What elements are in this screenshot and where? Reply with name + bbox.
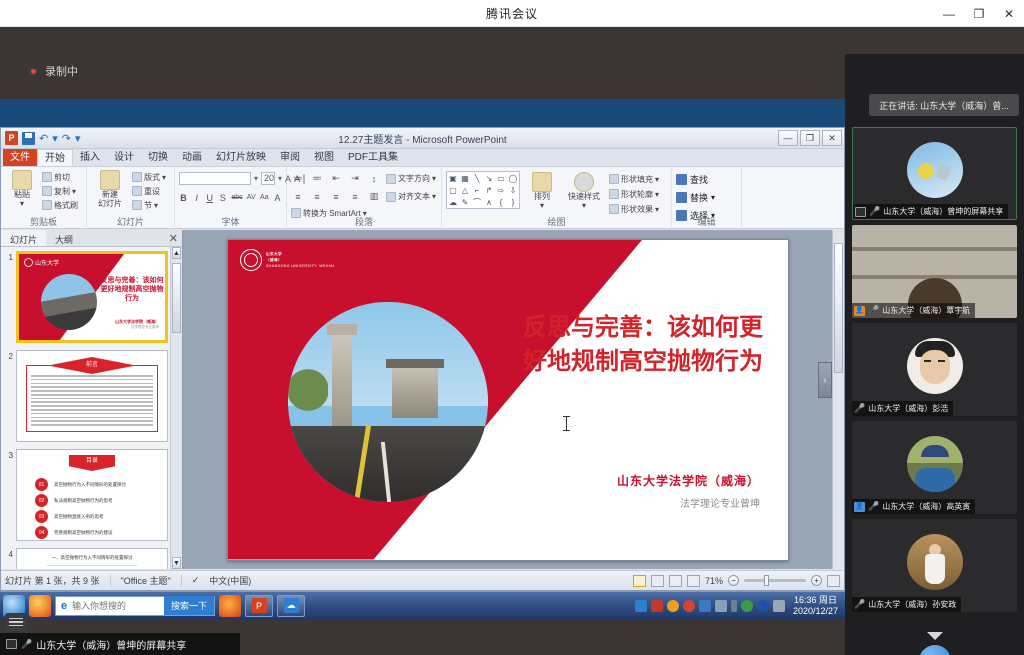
user-icon: 👤 bbox=[854, 306, 865, 316]
shape-outline-dropdown-icon[interactable]: ▾ bbox=[655, 190, 659, 199]
mini-body-lines bbox=[31, 375, 153, 428]
avatar-image bbox=[907, 436, 963, 492]
ribbon-group-drawing: ▣ ▦ ╲ ↘ ▭ ◯ ▢ △ ⌐ ↱ ⇨ ⇩ bbox=[442, 167, 672, 229]
thumbnail-scrollbar[interactable]: ▲ ▼ bbox=[170, 247, 182, 569]
format-painter-button[interactable]: 格式刷 bbox=[42, 199, 78, 211]
screen-share-icon bbox=[855, 207, 866, 217]
thumbnail-slide-4[interactable]: 一、高空抛物行为入不同情形的处置探讨 bbox=[16, 548, 168, 569]
participant-tile-2[interactable]: 🎤 山东大学（威海）彭浩 bbox=[852, 323, 1017, 416]
participant-name: 山东大学（威海）孙安政 bbox=[868, 599, 956, 610]
participant-rail[interactable]: 正在讲话: 山东大学（威海）曾... 🎤 山东大学（威海）曾坤的屏幕共享 bbox=[845, 54, 1024, 655]
tray-volume-icon[interactable] bbox=[651, 600, 663, 612]
avatar-body bbox=[915, 468, 955, 492]
shape-elbow-icon[interactable]: ⌐ bbox=[471, 184, 483, 196]
photo-gate bbox=[392, 366, 438, 418]
windows-desktop: P ↶ ▾ ↷ ▾ 12.27主题发言 - Microsoft PowerPoi… bbox=[0, 99, 845, 619]
system-tray: 16:36 周日 2020/12/27 bbox=[635, 595, 842, 617]
drawing-group-label: 绘图 bbox=[442, 215, 671, 228]
mini-photo bbox=[41, 274, 97, 330]
avatar-object bbox=[935, 164, 951, 181]
align-text-dropdown-icon[interactable]: ▾ bbox=[432, 192, 436, 201]
paragraph-group-label: 段落 bbox=[287, 215, 441, 228]
arrange-icon bbox=[532, 172, 552, 192]
shape-rightarrow-icon[interactable]: ⇨ bbox=[495, 184, 507, 196]
taskbar-cloud-app-button[interactable]: ☁ bbox=[277, 595, 305, 617]
logo-text: 山东大学（威海） SHANDONG UNIVERSITY, WEIHAI bbox=[266, 251, 334, 269]
ribbon-tab-strip: 文件 开始 插入 设计 切换 动画 幻灯片放映 审阅 视图 PDF工具集 bbox=[1, 149, 844, 167]
copy-dropdown-icon[interactable]: ▾ bbox=[72, 187, 76, 196]
font-size-input[interactable]: 20 bbox=[261, 172, 275, 185]
search-input[interactable] bbox=[72, 601, 148, 611]
font-color-icon[interactable]: A bbox=[273, 191, 282, 204]
photo-trees bbox=[288, 362, 328, 418]
language-label[interactable]: 中文(中国) bbox=[209, 574, 251, 587]
mini-author: 法学理论专业曾坤 bbox=[115, 325, 159, 330]
quick-styles-dropdown-icon[interactable]: ▾ bbox=[582, 201, 586, 210]
powerpoint-taskbar-icon: P bbox=[252, 598, 267, 613]
mini-toc-text: 完善规制高空抛物行为的建议 bbox=[54, 530, 113, 536]
shape-leftbrace-icon[interactable]: { bbox=[495, 196, 507, 208]
powerpoint-main-area: 幻灯片 大纲 ✕ 1 bbox=[1, 230, 844, 569]
shape-fill-icon bbox=[609, 174, 619, 184]
maximize-icon[interactable]: ❐ bbox=[964, 0, 994, 27]
font-name-input[interactable] bbox=[179, 172, 251, 185]
scroll-down-icon[interactable]: ▼ bbox=[172, 557, 181, 569]
shape-outline-icon bbox=[609, 189, 619, 199]
reset-button[interactable]: 重设 bbox=[132, 185, 166, 197]
paste-button[interactable]: 粘贴 ▾ bbox=[5, 169, 39, 208]
copy-label: 复制 bbox=[54, 186, 70, 197]
campus-photo bbox=[288, 302, 488, 502]
mini-heading: 目录 bbox=[69, 455, 115, 471]
mini-toc-text: 高空抛物行为入不同情形的处置探讨 bbox=[54, 482, 126, 488]
mini-toc-text: 私法规制高空抛物行为的思考 bbox=[54, 498, 113, 504]
mini-rule bbox=[47, 565, 137, 566]
tencent-meeting-body: 录制中 P ↶ ▾ ↷ ▾ 12.27主题发言 - Microsoft Powe… bbox=[0, 27, 1024, 655]
clock-time: 16:36 周日 bbox=[794, 595, 837, 605]
shape-effects-label: 形状效果 bbox=[621, 204, 653, 215]
shape-freeform-icon[interactable]: ✎ bbox=[459, 196, 471, 208]
logo-cn: 山东大学（威海） bbox=[266, 251, 334, 263]
shape-arrow-icon[interactable]: ↘ bbox=[483, 172, 495, 184]
shared-screen-area: P ↶ ▾ ↷ ▾ 12.27主题发言 - Microsoft PowerPoi… bbox=[0, 99, 845, 619]
participant-tile-0[interactable]: 🎤 山东大学（威海）曾坤的屏幕共享 bbox=[852, 127, 1017, 220]
shape-fill-label: 形状填充 bbox=[621, 174, 653, 185]
shape-fill-dropdown-icon[interactable]: ▾ bbox=[655, 175, 659, 184]
avatar bbox=[907, 534, 963, 590]
participant-name-bar: 👤 🎤 山东大学（威海）高英寅 bbox=[852, 499, 975, 514]
align-text-icon bbox=[386, 192, 396, 202]
replace-button[interactable]: 替换 ▾ bbox=[676, 190, 737, 204]
shape-effects-icon bbox=[609, 204, 619, 214]
columns-icon[interactable]: ▥ bbox=[367, 190, 381, 203]
screen-share-icon bbox=[6, 639, 17, 649]
app-launcher-icon[interactable] bbox=[29, 595, 51, 617]
shape-roundrect-icon[interactable]: ▢ bbox=[447, 184, 459, 196]
reset-label: 重设 bbox=[144, 186, 160, 197]
ribbon-group-paragraph: ≔ ≕ ⇤ ⇥ ↕ 文字方向 ▾ ≡ bbox=[287, 167, 442, 229]
tray-signal-icon[interactable] bbox=[715, 600, 727, 612]
mini-logo-svg: 山东大学 bbox=[24, 258, 76, 267]
ppt-restore-icon[interactable]: ❐ bbox=[800, 130, 820, 146]
paste-icon bbox=[12, 170, 32, 190]
bold-icon[interactable]: B bbox=[179, 191, 188, 204]
slide-affiliation: 山东大学法学院（威海） bbox=[617, 472, 760, 489]
thumbnail-slide-2[interactable]: 前言 bbox=[16, 350, 168, 442]
numbering-icon[interactable]: ≕ bbox=[310, 172, 324, 185]
align-center-icon[interactable]: ≡ bbox=[310, 190, 324, 203]
video-shelf bbox=[852, 247, 1017, 251]
bullets-icon[interactable]: ≔ bbox=[291, 172, 305, 185]
tray-antivirus-icon[interactable] bbox=[683, 600, 695, 612]
microphone-off-icon: 🎤 bbox=[868, 305, 879, 316]
layout-dropdown-icon[interactable]: ▾ bbox=[162, 173, 166, 182]
zoom-level: 71% bbox=[705, 576, 723, 586]
ribbon: 粘贴 ▾ 剪切 复制 bbox=[1, 167, 844, 229]
mini-toc-text: 高空抛物直接入刑的思考 bbox=[54, 514, 104, 520]
meeting-timer-badge[interactable]: 39:31 bbox=[919, 645, 951, 655]
cloud-app-icon: ☁ bbox=[284, 598, 299, 613]
zoom-out-icon[interactable]: − bbox=[728, 575, 739, 586]
mini-subtitle: 山东大学法学院（威海） 法学理论专业曾坤 bbox=[115, 319, 159, 330]
mini-badge: 01 bbox=[35, 478, 48, 491]
tray-update-icon[interactable] bbox=[667, 600, 679, 612]
avatar-dress bbox=[925, 554, 945, 584]
zoom-slider-knob[interactable] bbox=[764, 575, 769, 586]
layout-icon bbox=[132, 172, 142, 182]
scroll-up-icon[interactable]: ▲ bbox=[172, 247, 181, 259]
ribbon-group-slides: 新建 幻灯片 版式 ▾ bbox=[87, 167, 175, 229]
thumbnail-number: 4 bbox=[3, 548, 13, 559]
participant-tile-4[interactable]: 🎤 山东大学（威海）孙安政 bbox=[852, 519, 1017, 612]
slide-title-text[interactable]: 反思与完善：该如何更好地规制高空抛物行为 bbox=[518, 310, 768, 378]
new-slide-button[interactable]: 新建 幻灯片 bbox=[91, 169, 129, 208]
tray-shield-icon[interactable] bbox=[741, 600, 753, 612]
slide-canvas[interactable]: 山东大学（威海） SHANDONG UNIVERSITY, WEIHAI bbox=[227, 239, 789, 561]
replace-label: 替换 bbox=[690, 191, 708, 204]
decrease-indent-icon[interactable]: ⇤ bbox=[329, 172, 343, 185]
window-controls: — ❐ ✕ bbox=[934, 0, 1024, 27]
font-name-dropdown-icon[interactable]: ▾ bbox=[254, 174, 258, 183]
slide-counter: 幻灯片 第 1 张，共 9 张 bbox=[5, 574, 100, 587]
find-label: 查找 bbox=[690, 173, 708, 186]
slide-author: 法学理论专业曾坤 bbox=[617, 495, 760, 510]
mini-toc-item: 02 私法规制高空抛物行为的思考 bbox=[35, 494, 113, 507]
tencent-meeting-titlebar: 腾讯会议 — ❐ ✕ bbox=[0, 0, 1024, 27]
shape-outline-button[interactable]: 形状轮廓 ▾ bbox=[609, 188, 659, 200]
spellcheck-icon[interactable]: ✓ bbox=[192, 575, 200, 586]
section-label: 节 bbox=[144, 200, 152, 211]
record-dot-icon bbox=[28, 66, 39, 77]
participant-name: 山东大学（威海）曾坤的屏幕共享 bbox=[883, 206, 1003, 217]
avatar-image bbox=[907, 534, 963, 590]
shape-gallery[interactable]: ▣ ▦ ╲ ↘ ▭ ◯ ▢ △ ⌐ ↱ ⇨ ⇩ bbox=[446, 171, 520, 209]
find-icon bbox=[676, 174, 687, 185]
canvas-scroll-thumb[interactable] bbox=[834, 243, 843, 373]
thumbnail-number: 3 bbox=[3, 449, 13, 460]
mini-toc-item: 03 高空抛物直接入刑的思考 bbox=[35, 510, 104, 523]
format-painter-label: 格式刷 bbox=[54, 200, 78, 211]
text-direction-label: 文字方向 bbox=[398, 173, 430, 184]
taskbar-clock[interactable]: 16:36 周日 2020/12/27 bbox=[789, 595, 838, 617]
arrange-button[interactable]: 排列 ▾ bbox=[525, 171, 559, 210]
thumbnail-row[interactable]: 3 目录 01 高空抛物行为入不同情形的处置探讨 bbox=[3, 449, 170, 541]
shape-curve-icon[interactable]: ⌒ bbox=[471, 196, 483, 208]
section-button[interactable]: 节 ▾ bbox=[132, 199, 166, 211]
thumbnail-slide-3[interactable]: 目录 01 高空抛物行为入不同情形的处置探讨 02 私法规制高空抛物行为的思考 bbox=[16, 449, 168, 541]
editing-group-label: 编辑 bbox=[672, 215, 741, 228]
taskbar-search-box[interactable]: e 搜索一下 bbox=[55, 596, 215, 616]
recording-indicator: 录制中 bbox=[28, 63, 78, 79]
taskbar-powerpoint-button[interactable]: P bbox=[245, 595, 273, 617]
scroll-down-participants-icon[interactable] bbox=[927, 632, 943, 640]
mini-toc-item: 04 完善规制高空抛物行为的建议 bbox=[35, 526, 113, 539]
character-spacing-icon[interactable]: AV bbox=[247, 191, 256, 204]
shape-rightbrace-icon[interactable]: } bbox=[507, 196, 519, 208]
tray-usb-icon[interactable] bbox=[773, 600, 785, 612]
ribbon-tab-pdf-tools[interactable]: PDF工具集 bbox=[341, 149, 405, 166]
shape-effects-dropdown-icon[interactable]: ▾ bbox=[655, 205, 659, 214]
arrange-dropdown-icon[interactable]: ▾ bbox=[540, 201, 544, 210]
paste-label: 粘贴 bbox=[14, 190, 30, 199]
ribbon-tab-view[interactable]: 视图 bbox=[307, 149, 341, 166]
shape-fill-button[interactable]: 形状填充 ▾ bbox=[609, 173, 659, 185]
scissors-icon bbox=[42, 172, 52, 182]
divider bbox=[110, 575, 111, 587]
shape-downarrow-icon[interactable]: ⇩ bbox=[507, 184, 519, 196]
shape-oval-icon[interactable]: ◯ bbox=[507, 172, 519, 184]
new-slide-icon bbox=[100, 170, 120, 190]
tray-battery-icon[interactable] bbox=[731, 600, 737, 612]
find-button[interactable]: 查找 bbox=[676, 172, 737, 186]
thumbnail-number: 2 bbox=[3, 350, 13, 361]
microphone-off-icon: 🎤 bbox=[854, 599, 865, 610]
align-text-label: 对齐文本 bbox=[398, 191, 430, 202]
ribbon-tab-review[interactable]: 审阅 bbox=[273, 149, 307, 166]
tray-network-icon[interactable] bbox=[635, 600, 647, 612]
powerpoint-titlebar: P ↶ ▾ ↷ ▾ 12.27主题发言 - Microsoft PowerPoi… bbox=[1, 128, 844, 149]
text-cursor-icon bbox=[566, 416, 567, 431]
copy-button[interactable]: 复制 ▾ bbox=[42, 185, 78, 197]
participant-name: 山东大学（威海）覃宇航 bbox=[882, 305, 970, 316]
avatar-image bbox=[907, 142, 963, 198]
ppt-close-icon[interactable]: ✕ bbox=[822, 130, 842, 146]
text-direction-dropdown-icon[interactable]: ▾ bbox=[432, 174, 436, 183]
increase-indent-icon[interactable]: ⇥ bbox=[348, 172, 362, 185]
ribbon-tab-insert[interactable]: 插入 bbox=[73, 149, 107, 166]
quick-styles-button[interactable]: 快速样式 ▾ bbox=[564, 171, 604, 210]
clock-date: 2020/12/27 bbox=[793, 606, 838, 616]
ribbon-tab-design[interactable]: 设计 bbox=[107, 149, 141, 166]
avatar bbox=[907, 436, 963, 492]
svg-text:山东大学: 山东大学 bbox=[35, 259, 59, 267]
ribbon-tab-file[interactable]: 文件 bbox=[3, 149, 37, 166]
participant-list-toggle-icon[interactable] bbox=[5, 613, 27, 631]
ribbon-group-editing: 查找 替换 ▾ 选择 ▾ bbox=[672, 167, 742, 229]
section-icon bbox=[132, 200, 142, 210]
powerpoint-status-bar: 幻灯片 第 1 张，共 9 张 "Office 主题" ✓ 中文(中国) 71%… bbox=[1, 570, 844, 590]
close-icon[interactable]: ✕ bbox=[994, 0, 1024, 27]
mini-badge: 03 bbox=[35, 510, 48, 523]
theme-name[interactable]: "Office 主题" bbox=[121, 574, 171, 587]
mini-badge: 02 bbox=[35, 494, 48, 507]
photo-tower bbox=[332, 330, 352, 426]
shape-outline-label: 形状轮廓 bbox=[621, 189, 653, 200]
slideshow-icon[interactable] bbox=[687, 575, 700, 587]
thumbnail-slide-1[interactable]: 山东大学 反思与完善：该如何更好地规制高空抛物行为 山东大学法学院（威海） 法学… bbox=[16, 251, 168, 343]
new-slide-label-2: 幻灯片 bbox=[98, 199, 122, 208]
microphone-off-icon: 🎤 bbox=[868, 501, 879, 512]
line-spacing-icon[interactable]: ↕ bbox=[367, 172, 381, 185]
participant-name: 山东大学（威海）高英寅 bbox=[882, 501, 970, 512]
thumbnail-row[interactable]: 1 山东大学 bbox=[3, 251, 170, 343]
firefox-icon[interactable] bbox=[219, 595, 241, 617]
font-group-label: 字体 bbox=[175, 215, 286, 228]
internet-explorer-icon: e bbox=[56, 600, 72, 612]
document-title: 12.27主题发言 - Microsoft PowerPoint bbox=[1, 131, 844, 146]
participant-tile-3[interactable]: 👤 🎤 山东大学（威海）高英寅 bbox=[852, 421, 1017, 514]
layout-button[interactable]: 版式 ▾ bbox=[132, 171, 166, 183]
arrange-label: 排列 bbox=[534, 192, 550, 201]
text-direction-icon bbox=[386, 174, 396, 184]
align-text-button[interactable]: 对齐文本 ▾ bbox=[386, 191, 436, 203]
expand-pane-handle[interactable]: › bbox=[818, 362, 832, 398]
ribbon-tab-animations[interactable]: 动画 bbox=[175, 149, 209, 166]
windows-taskbar: e 搜索一下 P ☁ bbox=[0, 591, 845, 619]
logo-en: SHANDONG UNIVERSITY, WEIHAI bbox=[266, 263, 334, 269]
tray-input-method-icon[interactable] bbox=[699, 600, 711, 612]
ribbon-tab-home[interactable]: 开始 bbox=[37, 149, 73, 166]
ribbon-group-clipboard: 粘贴 ▾ 剪切 复制 bbox=[1, 167, 87, 229]
participant-name-bar: 🎤 山东大学（威海）彭浩 bbox=[852, 401, 953, 416]
layout-label: 版式 bbox=[144, 172, 160, 183]
thumbnail-scroll-thumb[interactable] bbox=[172, 263, 181, 333]
avatar-face bbox=[920, 350, 950, 384]
section-dropdown-icon[interactable]: ▾ bbox=[154, 201, 158, 210]
zoom-in-icon[interactable]: + bbox=[811, 575, 822, 586]
align-right-icon[interactable]: ≡ bbox=[329, 190, 343, 203]
reading-view-icon[interactable] bbox=[669, 575, 682, 587]
recording-label: 录制中 bbox=[45, 63, 78, 79]
avatar-eye bbox=[938, 360, 945, 362]
slide-thumbnail-list[interactable]: 1 山东大学 bbox=[1, 247, 170, 569]
user-icon: 👤 bbox=[854, 502, 865, 512]
thumbnail-row[interactable]: 4 一、高空抛物行为入不同情形的处置探讨 bbox=[3, 548, 170, 569]
text-direction-button[interactable]: 文字方向 ▾ bbox=[386, 173, 436, 185]
fit-to-window-icon[interactable] bbox=[827, 575, 840, 587]
normal-view-icon[interactable] bbox=[633, 575, 646, 587]
app-title: 腾讯会议 bbox=[486, 5, 538, 22]
mini-badge: 04 bbox=[35, 526, 48, 539]
underline-icon[interactable]: U bbox=[205, 191, 214, 204]
replace-icon bbox=[676, 192, 687, 203]
font-size-dropdown-icon[interactable]: ▾ bbox=[278, 174, 282, 183]
microphone-icon: 🎤 bbox=[21, 639, 32, 650]
paste-dropdown-icon[interactable]: ▾ bbox=[20, 199, 24, 208]
share-status-label: 山东大学（威海）曾坤的屏幕共享 bbox=[36, 637, 186, 652]
microphone-on-icon: 🎤 bbox=[869, 206, 880, 217]
tray-bluetooth-icon[interactable] bbox=[757, 600, 769, 612]
avatar-hat bbox=[921, 445, 949, 457]
powerpoint-window: P ↶ ▾ ↷ ▾ 12.27主题发言 - Microsoft PowerPoi… bbox=[0, 127, 845, 591]
mini-title-text: 反思与完善：该如何更好地规制高空抛物行为 bbox=[99, 276, 165, 303]
ribbon-group-font: ▾ 20 ▾ A A B I U S abc bbox=[175, 167, 287, 229]
canvas-scrollbar[interactable] bbox=[832, 230, 844, 569]
logo-seal-icon bbox=[240, 249, 262, 271]
ribbon-tab-slideshow[interactable]: 幻灯片放映 bbox=[209, 149, 273, 166]
avatar-sun bbox=[918, 163, 934, 179]
mini-toc-item: 01 高空抛物行为入不同情形的处置探讨 bbox=[35, 478, 126, 491]
reset-icon bbox=[132, 186, 142, 196]
microphone-off-icon: 🎤 bbox=[854, 403, 865, 414]
thumbnail-number: 1 bbox=[3, 251, 13, 262]
thumbnail-row[interactable]: 2 前言 bbox=[3, 350, 170, 442]
participant-name-bar: 👤 🎤 山东大学（威海）覃宇航 bbox=[852, 303, 975, 318]
quick-styles-label: 快速样式 bbox=[568, 192, 600, 201]
strikethrough-icon[interactable]: abc bbox=[231, 191, 242, 204]
shape-frame-icon[interactable]: ▦ bbox=[459, 172, 471, 184]
copy-icon bbox=[42, 186, 52, 196]
replace-dropdown-icon[interactable]: ▾ bbox=[711, 193, 715, 202]
zoom-slider[interactable] bbox=[744, 579, 806, 582]
cut-button[interactable]: 剪切 bbox=[42, 171, 78, 183]
participant-name: 山东大学（威海）彭浩 bbox=[868, 403, 948, 414]
shape-line-icon[interactable]: ╲ bbox=[471, 172, 483, 184]
avatar bbox=[907, 142, 963, 198]
paintbrush-icon bbox=[42, 200, 52, 210]
shape-textbox-icon[interactable]: ▣ bbox=[447, 172, 459, 184]
university-logo: 山东大学（威海） SHANDONG UNIVERSITY, WEIHAI bbox=[240, 249, 334, 271]
text-shadow-icon[interactable]: S bbox=[218, 191, 227, 204]
shape-angle-icon[interactable]: ∧ bbox=[483, 196, 495, 208]
minimize-icon[interactable]: — bbox=[934, 0, 964, 27]
powerpoint-window-controls: — ❐ ✕ bbox=[778, 130, 842, 146]
shape-effects-button[interactable]: 形状效果 ▾ bbox=[609, 203, 659, 215]
ppt-minimize-icon[interactable]: — bbox=[778, 130, 798, 146]
clipboard-group-label: 剪贴板 bbox=[1, 215, 86, 228]
slide-sorter-icon[interactable] bbox=[651, 575, 664, 587]
search-button[interactable]: 搜索一下 bbox=[164, 596, 214, 615]
slide-canvas-area: 山东大学（威海） SHANDONG UNIVERSITY, WEIHAI bbox=[184, 230, 832, 569]
change-case-icon[interactable]: Aa bbox=[260, 191, 269, 204]
align-left-icon[interactable]: ≡ bbox=[291, 190, 305, 203]
shape-rect-icon[interactable]: ▭ bbox=[495, 172, 507, 184]
thumbnail-pane-tabs: 幻灯片 大纲 ✕ bbox=[1, 230, 182, 247]
new-slide-label-1: 新建 bbox=[102, 190, 118, 199]
participant-name-bar: 🎤 山东大学（威海）孙安政 bbox=[852, 597, 961, 612]
quick-styles-icon bbox=[574, 172, 594, 192]
tab-outline[interactable]: 大纲 bbox=[46, 230, 82, 246]
slide-subtitle[interactable]: 山东大学法学院（威海） 法学理论专业曾坤 bbox=[617, 472, 760, 510]
italic-icon[interactable]: I bbox=[192, 191, 201, 204]
slide-thumbnail-pane: 幻灯片 大纲 ✕ 1 bbox=[1, 230, 183, 569]
shape-cloud-icon[interactable]: ☁ bbox=[447, 196, 459, 208]
mini-heading: 一、高空抛物行为入不同情形的处置探讨 bbox=[17, 555, 167, 561]
avatar-eye bbox=[924, 360, 931, 362]
avatar bbox=[907, 338, 963, 394]
share-status-bar: 🎤 山东大学（威海）曾坤的屏幕共享 bbox=[0, 633, 240, 655]
participant-tile-1[interactable]: 👤 🎤 山东大学（威海）覃宇航 bbox=[852, 225, 1017, 318]
close-pane-icon[interactable]: ✕ bbox=[169, 232, 178, 245]
cut-label: 剪切 bbox=[54, 172, 70, 183]
status-bar-right: 71% − + bbox=[633, 575, 840, 587]
justify-icon[interactable]: ≡ bbox=[348, 190, 362, 203]
shape-triangle-icon[interactable]: △ bbox=[459, 184, 471, 196]
shape-bentarrow-icon[interactable]: ↱ bbox=[483, 184, 495, 196]
tab-slides[interactable]: 幻灯片 bbox=[1, 230, 46, 246]
avatar-image bbox=[907, 338, 963, 394]
ribbon-tab-transitions[interactable]: 切换 bbox=[141, 149, 175, 166]
